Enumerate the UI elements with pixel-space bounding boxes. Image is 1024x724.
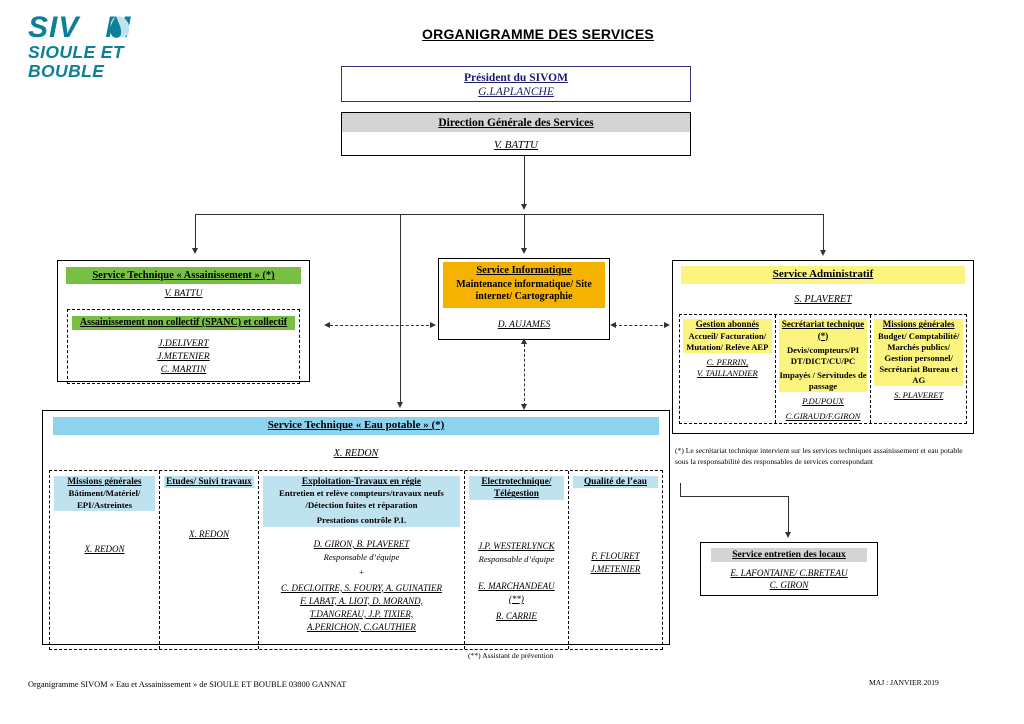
water-drop-icon	[107, 15, 129, 41]
arrowhead-administratif	[820, 250, 826, 256]
admin-col-title-2: Missions générales	[874, 319, 963, 330]
connector-drop-administratif	[823, 214, 824, 252]
connector-entretien-horizontal	[680, 496, 789, 497]
administratif-manager: S. PLAVERET	[673, 284, 973, 307]
entretien-name-0: E. LAFONTAINE/ C.BRETEAU	[701, 562, 877, 579]
eau-col-name-3-0: E. MARCHANDEAU	[469, 566, 564, 593]
spanc-names: J.DELIVERT J.METENIER C. MARTIN	[68, 330, 299, 376]
connector-drop-assainissement	[195, 214, 196, 250]
arrowhead-eau	[397, 402, 403, 408]
connector-dgs-down	[524, 156, 525, 206]
eau-col-name-2-1: F. LABAT, A. LIOT, D. MORAND,	[263, 595, 460, 608]
eau-col-body-0: Bâtiment/Matériel/ EPI/Astreintes	[54, 488, 155, 511]
sivom-logo: SIVM SIOULE ET BOUBLE	[28, 14, 198, 62]
eau-col-body2-2: Prestations contrôle P.I.	[263, 511, 460, 526]
spanc-name-2: J.METENIER	[68, 351, 299, 364]
page-title: ORGANIGRAMME DES SERVICES	[408, 26, 668, 42]
eau-col-body-2: Entretien et relève compteurs/travaux ne…	[263, 488, 460, 511]
dashed-link-info-admin	[614, 325, 668, 326]
spanc-header: Assainissement non collectif (SPANC) et …	[72, 316, 295, 331]
eau-col-title-0: Missions générales	[54, 476, 155, 488]
logo-wordmark: SIVM	[28, 14, 198, 42]
service-eau-potable-box: Service Technique « Eau potable » (*) X.…	[42, 410, 670, 645]
arrowhead-entretien	[785, 532, 791, 538]
connector-bus	[195, 214, 824, 215]
logo-text-siv: SIV	[28, 11, 79, 44]
eau-col-name-1-0: X. REDON	[164, 488, 254, 541]
arrowhead-assainissement	[192, 248, 198, 254]
arrowhead-informatique	[521, 248, 527, 254]
eau-col-title-3: Electrotechnique/ Télégestion	[469, 476, 564, 500]
organigramme-canvas: SIVM SIOULE ET BOUBLE ORGANIGRAMME DES S…	[0, 0, 1024, 724]
eau-col-name-2-3: A.PERICHON, C.GAUTHIER	[263, 621, 460, 634]
eau-columns: Missions générales Bâtiment/Matériel/ EP…	[49, 470, 663, 650]
dashed-arrow-up-info	[521, 338, 527, 344]
footnote-double-star: (**) Assistant de prévention	[468, 651, 553, 660]
dashed-arrow-left-assain	[324, 322, 330, 328]
admin-col-name-0-1: V. TAILLANDIER	[683, 368, 772, 380]
informatique-header: Service Informatique	[447, 265, 601, 276]
president-box: Président du SIVOM G.LAPLANCHE	[341, 66, 691, 102]
service-entretien-box: Service entretien des locaux E. LAFONTAI…	[700, 542, 878, 596]
eau-col-title-2: Exploitation-Travaux en régie	[263, 476, 460, 488]
administratif-columns: Gestion abonnés Accueil/ Facturation/ Mu…	[679, 314, 967, 424]
entretien-header: Service entretien des locaux	[711, 548, 867, 562]
assainissement-header: Service Technique « Assainissement » (*)	[66, 267, 301, 284]
eau-col-name-4-1: J.METENIER	[573, 563, 658, 576]
eau-col-lead-role-3: Responsable d’équipe	[469, 553, 564, 565]
eau-col-name-2-0: C. DECLOITRE, S. FOURY, A. GUINATIER	[263, 579, 460, 595]
spanc-name-3: C. MARTIN	[68, 364, 299, 377]
direction-role: Direction Générale des Services	[342, 113, 690, 132]
dashed-link-assain-info	[330, 325, 434, 326]
eau-col-name-3-2: R. CARRIE	[469, 606, 564, 623]
arrowhead-dgs	[521, 204, 527, 210]
eau-manager: X. REDON	[43, 435, 669, 461]
assainissement-manager: V. BATTU	[58, 284, 309, 301]
admin-col-name-2-0: S. PLAVERET	[874, 386, 963, 402]
connector-drop-eau	[400, 214, 401, 404]
eau-col-plus-2: +	[263, 563, 460, 578]
service-informatique-box: Service Informatique Maintenance informa…	[438, 258, 610, 340]
eau-col-lead-2: D. GIRON, B. PLAVERET	[263, 527, 460, 551]
spanc-subbox: Assainissement non collectif (SPANC) et …	[67, 309, 300, 384]
admin-col-name-1-0: P.DUPOUX	[779, 392, 868, 408]
eau-col-name-0-0: X. REDON	[54, 511, 155, 556]
eau-col-qualite: Qualité de l’eau F. FLOURET J.METENIER	[568, 471, 662, 649]
eau-col-electrotechnique: Electrotechnique/ Télégestion J.P. WESTE…	[464, 471, 568, 649]
eau-col-title-4: Qualité de l’eau	[573, 476, 658, 488]
admin-col-body-1: Devis/compteurs/PI DT/DICT/CU/PC	[779, 342, 868, 367]
direction-name: V. BATTU	[342, 132, 690, 153]
administratif-header: Service Administratif	[681, 266, 965, 284]
dashed-arrow-left-info	[610, 322, 616, 328]
eau-col-name-3-1: (**)	[469, 593, 564, 606]
president-role: Président du SIVOM	[342, 67, 690, 85]
eau-col-name-4-0: F. FLOURET	[573, 488, 658, 563]
informatique-subtitle: Maintenance informatique/ Site internet/…	[447, 276, 601, 303]
eau-col-name-2-2: T.DANGREAU, J.P. TIXIER,	[263, 608, 460, 621]
admin-col-body-2: Budget/ Comptabilité/ Marchés publics/ G…	[874, 331, 963, 387]
spanc-name-1: J.DELIVERT	[68, 338, 299, 351]
eau-col-exploitation: Exploitation-Travaux en régie Entretien …	[258, 471, 464, 649]
admin-col-missions-generales: Missions générales Budget/ Comptabilité/…	[870, 315, 966, 423]
admin-col-body2-1: Impayés / Servitudes de passage	[779, 367, 868, 392]
admin-col-name-1-1: C.GIRAUD/F.GIRON	[779, 408, 868, 423]
admin-col-name-0-0: C. PERRIN,	[683, 353, 772, 369]
dashed-link-info-eau	[524, 344, 525, 406]
admin-col-body-0: Accueil/ Facturation/ Mutation/ Relève A…	[683, 331, 772, 353]
dashed-arrow-right-admin	[664, 322, 670, 328]
informatique-name: D. AUJAMES	[439, 308, 609, 332]
admin-col-title-0: Gestion abonnés	[683, 319, 772, 330]
eau-col-missions-generales: Missions générales Bâtiment/Matériel/ EP…	[50, 471, 159, 649]
admin-col-title-1: Secrétariat technique (*)	[779, 319, 868, 342]
eau-header: Service Technique « Eau potable » (*)	[53, 417, 659, 435]
logo-subtitle: SIOULE ET BOUBLE	[28, 43, 198, 81]
connector-entretien-stub	[680, 483, 681, 497]
service-administratif-box: Service Administratif S. PLAVERET Gestio…	[672, 260, 974, 434]
service-assainissement-box: Service Technique « Assainissement » (*)…	[57, 260, 310, 382]
footnote-single-star: (*) Le secrétariat technique intervient …	[675, 445, 975, 467]
eau-col-title-1: Etudes/ Suivi travaux	[164, 476, 254, 488]
president-name: G.LAPLANCHE	[342, 85, 690, 101]
admin-col-gestion-abonnes: Gestion abonnés Accueil/ Facturation/ Mu…	[680, 315, 775, 423]
connector-drop-informatique	[524, 214, 525, 250]
entretien-name-1: C. GIRON	[701, 579, 877, 591]
dashed-arrow-right-info	[430, 322, 436, 328]
connector-entretien-vertical	[788, 496, 789, 534]
informatique-header-bar: Service Informatique Maintenance informa…	[443, 262, 605, 308]
eau-col-lead-3: J.P. WESTERLYNCK	[469, 500, 564, 553]
direction-generale-box: Direction Générale des Services V. BATTU	[341, 112, 691, 156]
footer-left: Organigramme SIVOM « Eau et Assainisseme…	[28, 680, 346, 689]
eau-col-lead-role-2: Responsable d’équipe	[263, 551, 460, 563]
admin-col-secretariat-technique: Secrétariat technique (*) Devis/compteur…	[775, 315, 871, 423]
footer-right: MAJ : JANVIER 2019	[869, 678, 939, 687]
eau-col-etudes: Etudes/ Suivi travaux X. REDON	[159, 471, 258, 649]
